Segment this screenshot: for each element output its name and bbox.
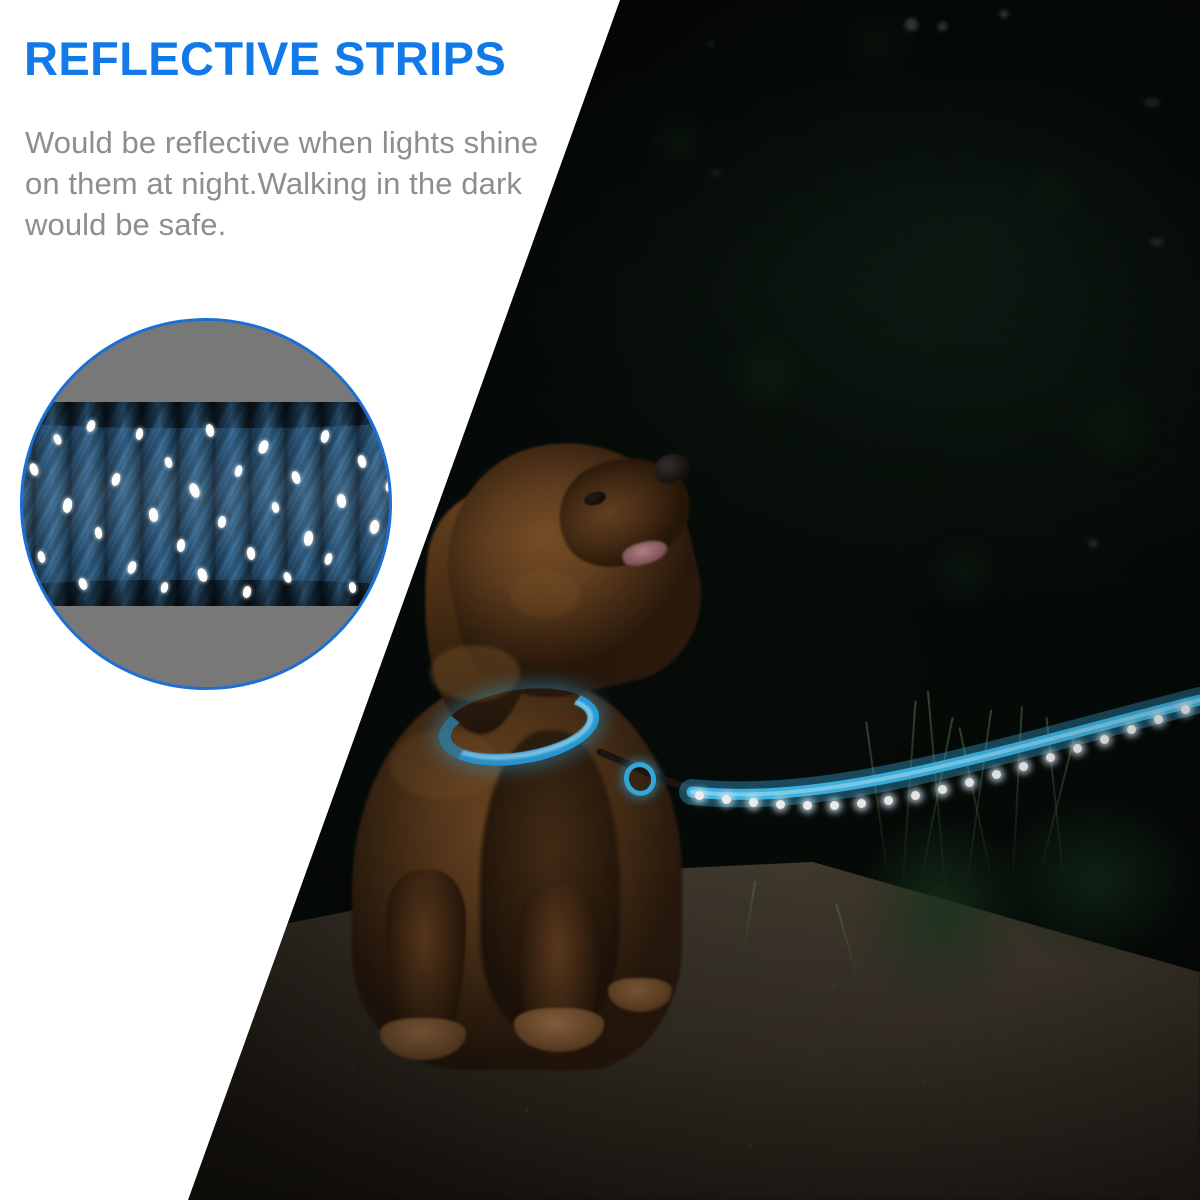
led-point <box>1019 762 1028 771</box>
led-point <box>857 799 866 808</box>
led-point <box>1154 715 1163 724</box>
led-point <box>830 801 839 810</box>
led-point <box>722 795 731 804</box>
canopy-light-speck <box>1150 238 1164 246</box>
product-feature-image: REFLECTIVE STRIPS Would be reflective wh… <box>0 0 1200 1200</box>
led-point <box>965 778 974 787</box>
led-point <box>911 791 920 800</box>
led-point <box>1046 753 1055 762</box>
canopy-light-speck <box>1000 10 1008 18</box>
led-point <box>776 800 785 809</box>
led-point <box>1181 705 1190 714</box>
led-point <box>695 791 704 800</box>
canopy-light-speck <box>1088 540 1098 547</box>
led-point <box>803 801 812 810</box>
page-title: REFLECTIVE STRIPS <box>24 34 624 83</box>
canopy-light-speck <box>712 170 720 176</box>
led-point <box>1100 735 1109 744</box>
led-point <box>938 785 947 794</box>
rope-stage <box>23 321 389 687</box>
dog-fur-wisp <box>510 570 580 618</box>
canopy-light-speck <box>707 40 714 47</box>
led-point <box>992 770 1001 779</box>
rope-coils <box>20 402 392 607</box>
led-point <box>1127 725 1136 734</box>
canopy-light-speck <box>938 22 947 31</box>
canopy-light-speck <box>1144 98 1160 107</box>
led-point <box>749 798 758 807</box>
reflective-rope-closeup <box>20 318 392 690</box>
canopy-light-speck <box>905 18 918 31</box>
led-point <box>884 796 893 805</box>
led-point <box>1073 744 1082 753</box>
page-description: Would be reflective when lights shine on… <box>25 122 545 246</box>
